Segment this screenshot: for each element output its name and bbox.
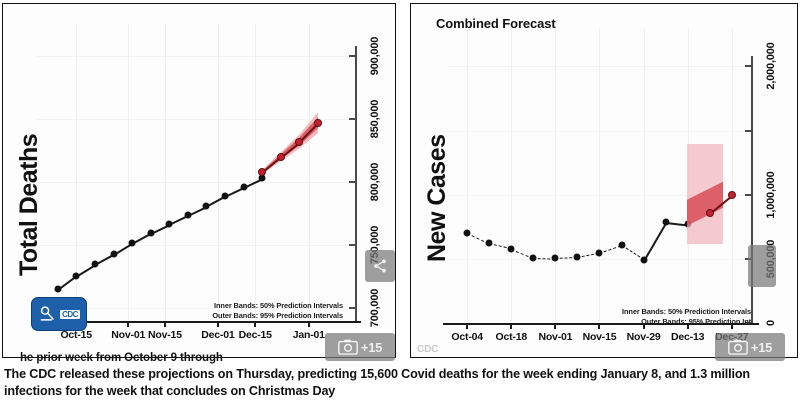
- microscope-icon: [38, 304, 58, 324]
- truncated-article-text: he prior week from October 9 through: [20, 352, 223, 364]
- screenshot-root: Oct-15Nov-01Nov-15Dec-01Dec-15Jan-01700,…: [0, 0, 800, 413]
- plot-area-new-cases: Oct-04Oct-18Nov-01Nov-15Nov-29Dec-13Dec-…: [411, 4, 797, 357]
- y-axis-title-total-deaths: Total Deaths: [15, 134, 44, 276]
- data-point: [728, 191, 736, 199]
- data-point: [706, 209, 714, 217]
- data-point: [295, 138, 303, 146]
- note-inner-bands-right: Inner Bands: 50% Prediction Intervals: [622, 307, 751, 317]
- photo-count-badge-right[interactable]: +15: [715, 333, 785, 361]
- prediction-interval-note-left: Inner Bands: 50% Prediction Intervals Ou…: [212, 301, 343, 321]
- data-point: [314, 119, 322, 127]
- cdc-logo: CDC: [31, 297, 87, 331]
- photo-count-left: +15: [361, 340, 382, 355]
- cdc-logo-text: CDC: [60, 310, 80, 319]
- note-outer-bands-left: Outer Bands: 95% Prediction Intervals: [212, 311, 343, 321]
- data-point: [258, 168, 266, 176]
- chart-title-combined-forecast: Combined Forecast: [436, 16, 556, 31]
- cdc-watermark-right: CDC: [417, 344, 438, 355]
- photo-count-right: +15: [751, 340, 772, 355]
- share-button[interactable]: [365, 250, 395, 282]
- camera-icon: [728, 339, 748, 355]
- inner-band-50: [687, 182, 723, 226]
- note-outer-bands-right: Outer Bands: 95% Prediction Int: [622, 317, 751, 327]
- article-caption: The CDC released these projections on Th…: [4, 366, 796, 400]
- camera-icon: [338, 339, 358, 355]
- note-inner-bands-left: Inner Bands: 50% Prediction Intervals: [212, 301, 343, 311]
- photo-count-badge-left[interactable]: +15: [325, 333, 395, 361]
- prediction-interval-note-right: Inner Bands: 50% Prediction Intervals Ou…: [622, 307, 751, 327]
- y-axis-title-new-cases: New Cases: [423, 134, 452, 262]
- share-icon: [372, 258, 388, 274]
- chart-panel-total-deaths: Oct-15Nov-01Nov-15Dec-01Dec-15Jan-01700,…: [2, 3, 396, 358]
- chart-panel-new-cases: Oct-04Oct-18Nov-01Nov-15Nov-29Dec-13Dec-…: [410, 3, 798, 358]
- data-point: [277, 153, 285, 161]
- scroll-handle-right[interactable]: [748, 245, 776, 287]
